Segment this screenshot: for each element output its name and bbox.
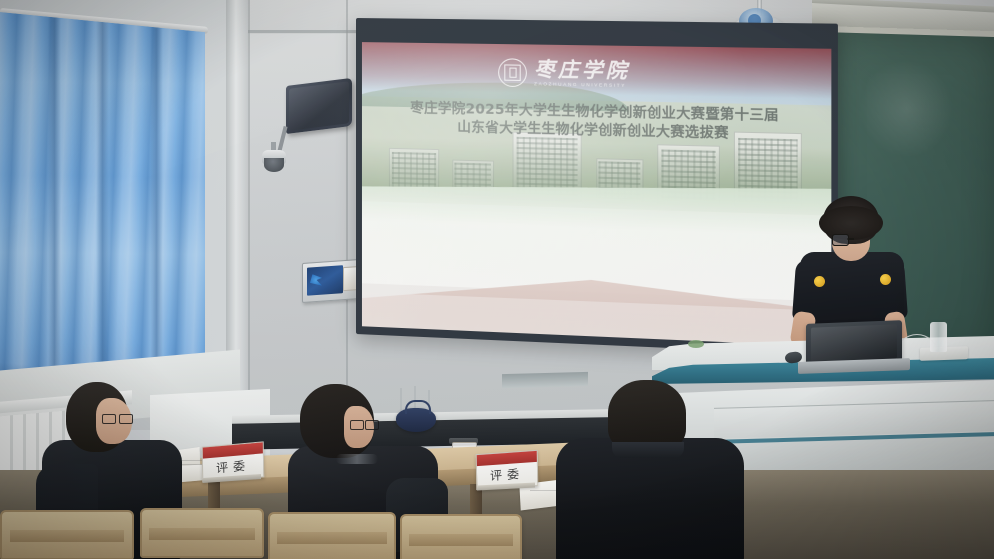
university-name-block: 枣庄学院 ZAOZHUANG UNIVERSITY <box>534 60 630 89</box>
university-name-cn: 枣庄学院 <box>534 60 630 82</box>
blackboard-sheen <box>859 59 953 158</box>
seal-inner-mark <box>504 65 520 82</box>
wall-control-panel[interactable] <box>302 259 360 303</box>
chair-slat <box>10 530 124 542</box>
green-object-on-desk <box>688 340 704 348</box>
chair[interactable] <box>268 512 396 559</box>
screen-surface: 枣庄学院 ZAOZHUANG UNIVERSITY 枣庄学院2025年大学生生物… <box>362 42 831 347</box>
wall-speaker-icon <box>286 78 352 134</box>
projection-screen[interactable]: 枣庄学院 ZAOZHUANG UNIVERSITY 枣庄学院2025年大学生生物… <box>356 18 838 355</box>
chair-slat <box>409 534 513 546</box>
university-seal-icon <box>498 59 527 88</box>
classroom-scene: 枣庄学院 ZAOZHUANG UNIVERSITY 枣庄学院2025年大学生生物… <box>0 0 994 559</box>
curtain-fold <box>48 17 61 388</box>
tshirt-dot-left <box>814 276 825 287</box>
university-name-en: ZAOZHUANG UNIVERSITY <box>534 82 630 88</box>
speaker-grille <box>289 81 349 130</box>
curtain-fold <box>96 21 109 392</box>
person-collar <box>612 442 684 458</box>
chair-slat <box>149 528 255 540</box>
curtain-fold <box>150 27 163 398</box>
person-glasses-icon <box>102 414 134 422</box>
chair[interactable] <box>0 510 134 559</box>
chair[interactable] <box>400 514 522 559</box>
tshirt-dot-right <box>880 274 891 285</box>
person-glasses-icon <box>350 420 378 428</box>
chair-slat <box>277 532 386 544</box>
jacket-highlight <box>336 454 378 464</box>
chair[interactable] <box>140 508 264 558</box>
water-bottle <box>930 322 947 352</box>
judge-seated-right <box>556 380 750 559</box>
window-curtain[interactable] <box>0 12 205 402</box>
camera-dome <box>264 158 284 172</box>
presenter-glasses-icon <box>832 234 871 244</box>
wall-seam <box>248 0 250 400</box>
university-logo: 枣庄学院 ZAOZHUANG UNIVERSITY <box>498 59 630 90</box>
wall-seam <box>346 0 348 410</box>
